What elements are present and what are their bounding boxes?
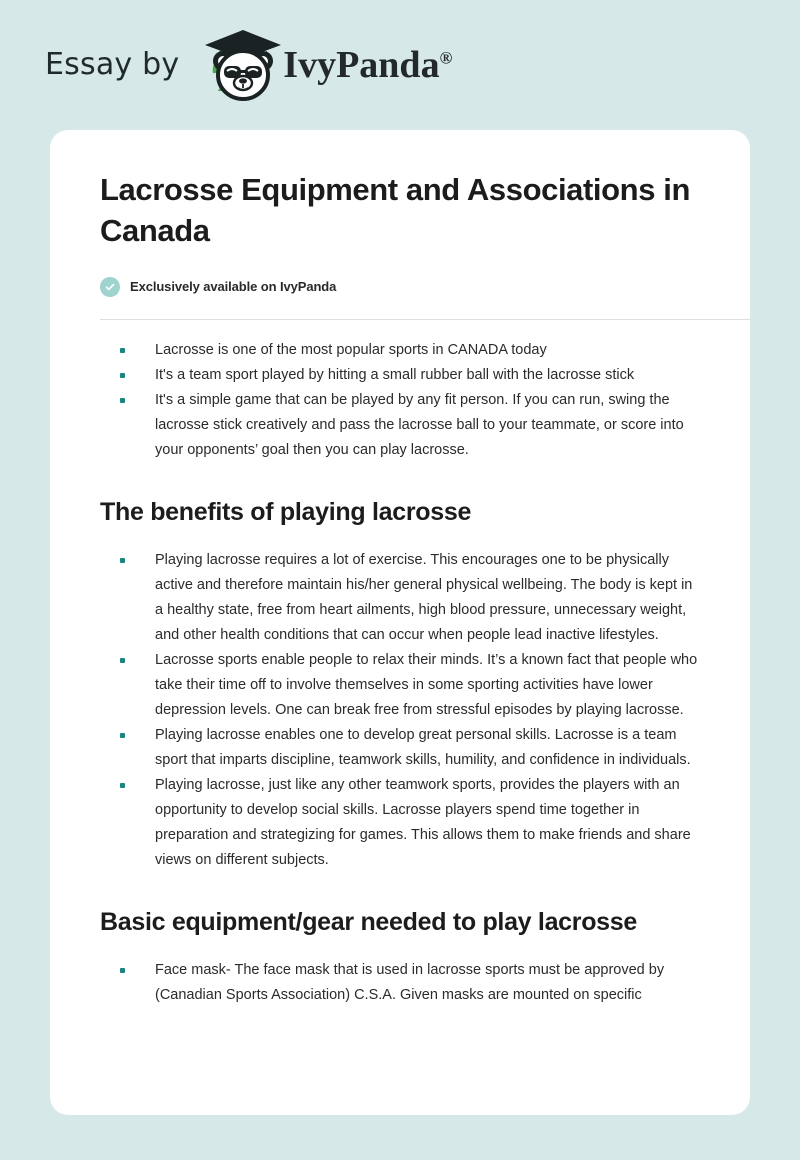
check-circle-icon [100,277,120,297]
list-item: It's a team sport played by hitting a sm… [100,363,700,388]
essay-body: Lacrosse is one of the most popular spor… [100,338,700,1009]
ivypanda-wordmark: IvyPanda® [283,46,452,84]
page-title: Lacrosse Equipment and Associations in C… [100,170,700,252]
list-item: It's a simple game that can be played by… [100,388,700,463]
list-item: Playing lacrosse enables one to develop … [100,723,700,773]
panda-graduate-icon [197,26,289,104]
intro-bullet-list: Lacrosse is one of the most popular spor… [100,338,700,463]
exclusivity-badge: Exclusively available on IvyPanda [100,277,700,297]
header-divider [100,319,750,320]
wordmark-text: IvyPanda [283,44,439,86]
list-item: Playing lacrosse, just like any other te… [100,773,700,873]
list-item: Lacrosse is one of the most popular spor… [100,338,700,363]
list-item: Face mask- The face mask that is used in… [100,958,700,1008]
section-heading-equipment: Basic equipment/gear needed to play lacr… [100,907,700,938]
essay-card: Lacrosse Equipment and Associations in C… [50,130,750,1115]
equipment-bullet-list: Face mask- The face mask that is used in… [100,958,700,1008]
exclusivity-label: Exclusively available on IvyPanda [130,279,336,294]
ivypanda-logo[interactable]: IvyPanda® [197,26,452,104]
benefits-bullet-list: Playing lacrosse requires a lot of exerc… [100,548,700,873]
brand-header: Essay by [0,0,800,130]
section-heading-benefits: The benefits of playing lacrosse [100,497,700,528]
list-item: Playing lacrosse requires a lot of exerc… [100,548,700,648]
essay-by-label: Essay by [45,50,179,80]
registered-mark: ® [440,48,453,67]
list-item: Lacrosse sports enable people to relax t… [100,648,700,723]
